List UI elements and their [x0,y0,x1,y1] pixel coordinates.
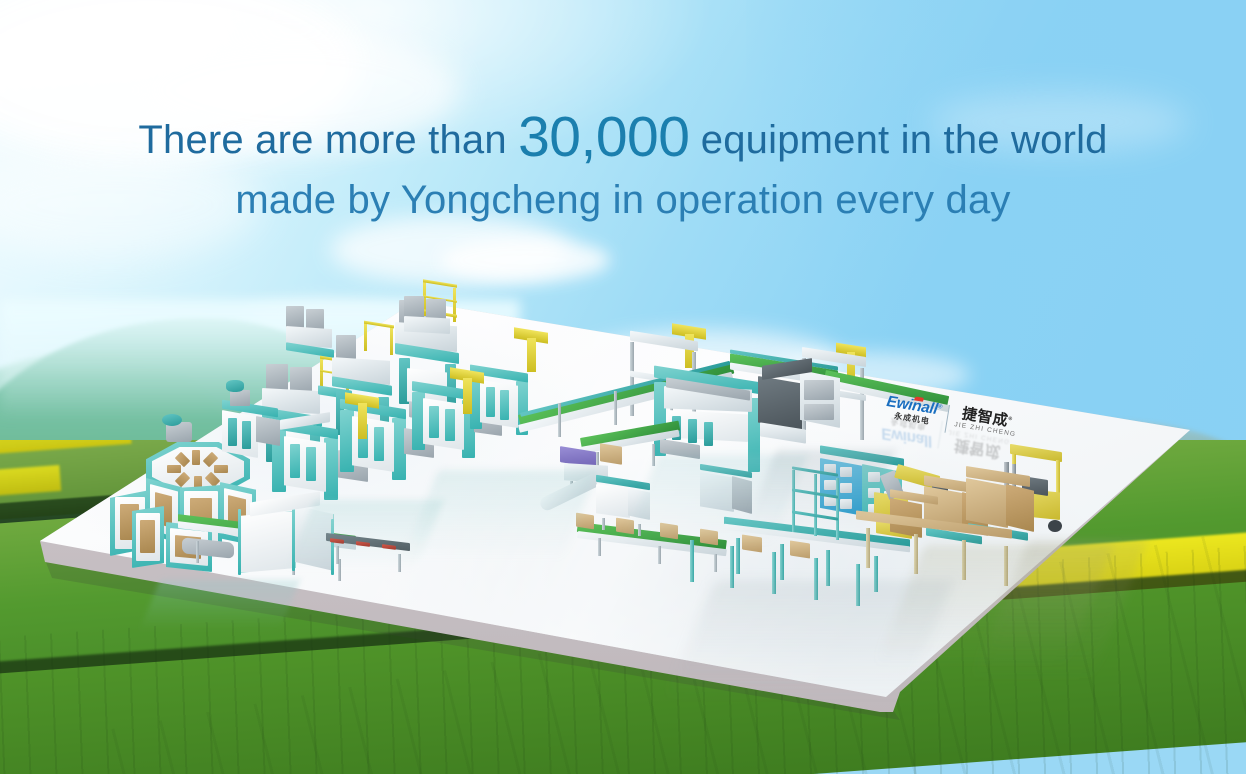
headline-highlight-number: 30,000 [518,105,689,169]
banner-stage: Ewinall® 永成机电 捷智成® JIE ZHI CHENG Ewinall… [0,0,1246,774]
headline-text-after: equipment in the world [689,118,1107,162]
belt-conveyor [326,538,412,568]
headline-line-1: There are more than 30,000 equipment in … [0,104,1246,171]
carton-box [576,513,594,530]
headline-line-2: made by Yongcheng in operation every day [0,177,1246,224]
headline-text-before: There are more than [138,118,518,162]
safety-railing [792,470,840,550]
carton-box [660,523,678,540]
hopper-unit [700,468,756,524]
labelling-unit [758,370,842,454]
support-legs [690,540,890,596]
control-cabinet [238,505,334,583]
auxiliary-machine [286,300,346,362]
auxiliary-machine [222,402,288,474]
safety-post [450,370,484,416]
check-weigher [596,478,656,530]
auxiliary-machine [404,296,460,336]
safety-post [345,395,379,441]
headline: There are more than 30,000 equipment in … [0,104,1246,224]
